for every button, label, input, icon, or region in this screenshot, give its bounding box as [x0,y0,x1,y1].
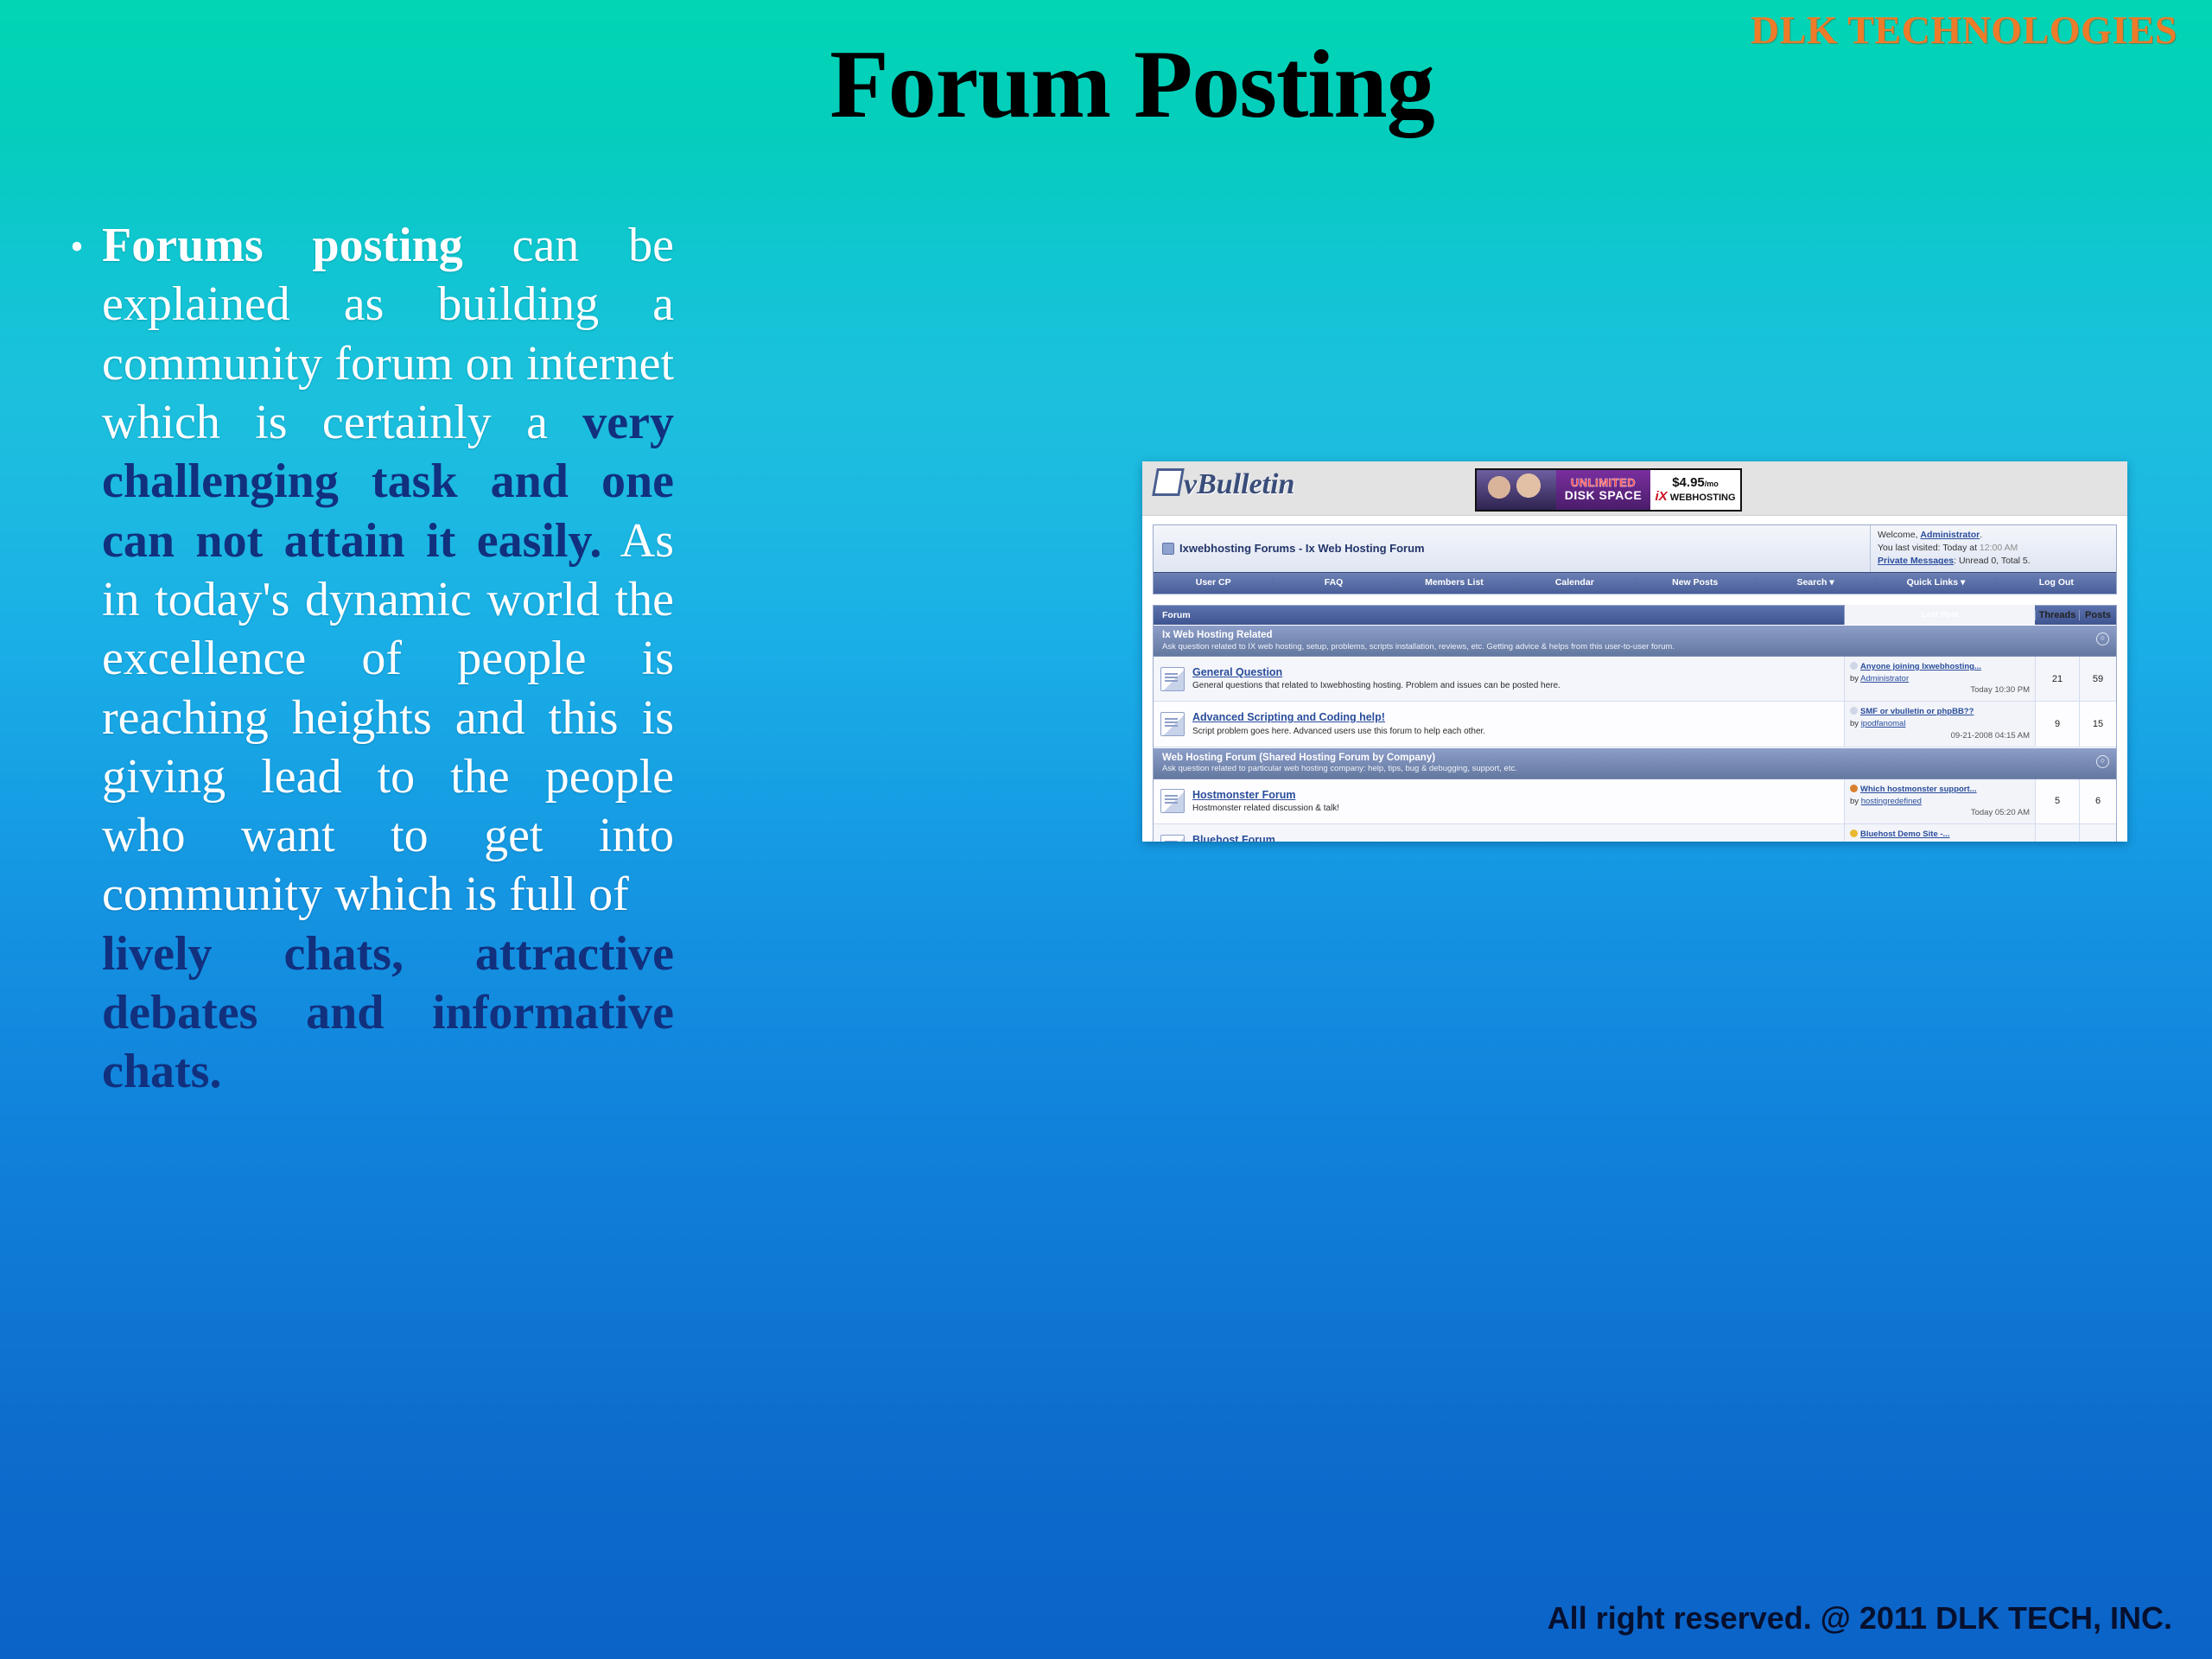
forum-category-header: Web Hosting Forum (Shared Hosting Forum … [1154,747,2116,779]
banner-ad-price-unit: /mo [1705,480,1719,488]
forum-header-panel: Ixwebhosting Forums - Ix Web Hosting For… [1153,524,2117,594]
banner-ad-photo [1477,470,1556,510]
forum-navbar[interactable]: User CPFAQMembers ListCalendarNew PostsS… [1154,572,2116,594]
vbulletin-logo: vBulletin [1154,468,1294,501]
posts-count: 59 [2079,657,2116,701]
last-post-author: by Administrator [1850,674,1909,683]
page-title: Forum Posting [0,35,2212,137]
forum-category-description: Ask question related to particular web h… [1162,764,2107,774]
forum-description: Hostmonster related discussion & talk! [1192,803,1339,815]
welcome-line-1: Welcome, Administrator. [1878,529,2109,542]
forum-category-title: Ix Web Hosting Related [1162,629,2107,642]
slide: DLK TECHNOLOGIES Forum Posting • Forums … [0,0,2212,1659]
last-post-date: Today 10:30 PM [1850,684,2030,696]
forum-folder-icon [1160,789,1185,813]
last-post-cell: Anyone joining Ixwebhosting...by Adminis… [1844,657,2035,701]
forum-row[interactable]: Bluehost ForumBluehost related discussio… [1154,824,2116,842]
forum-cell: Hostmonster ForumHostmonster related dis… [1154,779,1844,823]
private-messages-count: : Unread 0, Total 5. [1954,556,2031,566]
forum-breadcrumb: Ixwebhosting Forums - Ix Web Hosting For… [1154,525,1870,572]
banner-ad-unlimited: UNLIMITED [1571,477,1636,488]
forum-table: Forum Last Post Threads Posts Ix Web Hos… [1153,605,2117,842]
collapse-icon[interactable]: ○ [2096,632,2109,645]
screenshot-reflection: vBulletin UNLIMITED DISK SPACE $4.95/mo … [1142,842,2127,1101]
welcome-user-link[interactable]: Administrator [1920,530,1980,540]
vbulletin-body: Ixwebhosting Forums - Ix Web Hosting For… [1142,516,2127,842]
nav-item-search[interactable]: Search ▾ [1756,578,1876,588]
forum-category-header: Ix Web Hosting RelatedAsk question relat… [1154,625,2116,657]
vbulletin-screenshot: vBulletin UNLIMITED DISK SPACE $4.95/mo … [1142,461,2127,842]
ix-logo-icon: iX [1655,489,1667,504]
welcome-line-3: Private Messages: Unread 0, Total 5. [1878,555,2109,568]
col-header-last-post: Last Post [1844,605,2035,626]
forum-row[interactable]: General QuestionGeneral questions that r… [1154,657,2116,702]
last-post-status-icon [1850,785,1858,792]
threads-count: 21 [2035,657,2079,701]
forum-description: General questions that related to Ixwebh… [1192,680,1560,692]
posts-count: 6 [2079,779,2116,823]
banner-ad-diskspace: DISK SPACE [1565,488,1643,503]
body-seg-bold-navy-2: lively chats, attractive debates and inf… [102,925,674,1102]
forum-home-icon [1162,543,1174,555]
last-post-author-link[interactable]: hostingredefined [1861,797,1922,806]
body-text-column: • Forums posting can be explained as bui… [52,216,674,1102]
body-paragraph: Forums posting can be explained as build… [102,216,674,1102]
forum-folder-icon [1160,667,1185,691]
last-post-author-link[interactable]: Administrator [1860,674,1909,683]
forum-table-header: Forum Last Post Threads Posts [1154,606,2116,625]
nav-item-faq[interactable]: FAQ [1274,578,1394,588]
welcome-suffix: . [1980,530,1982,540]
private-messages-link[interactable]: Private Messages [1878,556,1954,566]
body-seg-plain-2: As in today's dynamic world the excellen… [102,514,674,922]
col-header-threads: Threads [2035,610,2079,620]
last-visit-time: 12:00 AM [1980,543,2018,553]
last-post-status-icon [1850,829,1858,837]
forum-cell: Bluehost ForumBluehost related discussio… [1154,824,1844,842]
vbulletin-logo-mark-icon [1152,468,1185,496]
forum-titlebar: Ixwebhosting Forums - Ix Web Hosting For… [1154,525,2116,572]
nav-item-user-cp[interactable]: User CP [1154,578,1274,588]
nav-item-members-list[interactable]: Members List [1395,578,1515,588]
welcome-panel: Welcome, Administrator. You last visited… [1870,525,2116,572]
body-seg-bold-white: Forums posting [102,219,463,272]
nav-item-log-out[interactable]: Log Out [1997,578,2116,588]
posts-count: 15 [2079,702,2116,746]
last-post-author-link[interactable]: ipodfanomal [1861,719,1906,728]
last-post-status-icon [1850,662,1858,670]
last-post-title-link[interactable]: Which hostmonster support... [1860,785,1977,794]
forum-category-title: Web Hosting Forum (Shared Hosting Forum … [1162,752,2107,765]
forum-row[interactable]: Hostmonster ForumHostmonster related dis… [1154,779,2116,824]
forum-cell: General QuestionGeneral questions that r… [1154,657,1844,701]
banner-ad-message: UNLIMITED DISK SPACE [1556,470,1650,510]
nav-item-new-posts[interactable]: New Posts [1636,578,1756,588]
last-post-title-link[interactable]: Bluehost Demo Site -... [1860,829,1949,839]
forum-description: Script problem goes here. Advanced users… [1192,726,1485,738]
last-post-cell: Which hostmonster support...by hostingre… [1844,779,2035,823]
forum-link[interactable]: Hostmonster Forum [1192,788,1339,804]
vbulletin-header: vBulletin UNLIMITED DISK SPACE $4.95/mo … [1142,461,2127,516]
last-post-author: by hostingredefined [1850,797,1922,806]
forum-link[interactable]: Bluehost Forum [1192,833,1324,842]
bullet-list-item: • Forums posting can be explained as bui… [52,216,674,1102]
copyright-footer: All right reserved. @ 2011 DLK TECH, INC… [1548,1600,2172,1637]
last-post-status-icon [1850,707,1858,715]
vbulletin-logo-text: vBulletin [1184,468,1294,500]
collapse-icon[interactable]: ○ [2096,755,2109,768]
last-post-title-link[interactable]: SMF or vbulletin or phpBB?? [1860,707,1974,716]
col-header-forum: Forum [1154,610,1844,620]
last-visit-label: You last visited: Today at [1878,543,1980,553]
last-post-cell: Bluehost Demo Site -...by Administrator0… [1844,824,2035,842]
last-post-author: by ipodfanomal [1850,719,1905,728]
banner-ad[interactable]: UNLIMITED DISK SPACE $4.95/mo iX WEBHOST… [1475,468,1742,512]
forum-breadcrumb-text: Ixwebhosting Forums - Ix Web Hosting For… [1179,542,1425,555]
banner-ad-price-block: $4.95/mo iX WEBHOSTING [1650,470,1740,510]
col-header-posts: Posts [2079,610,2116,620]
forum-category-description: Ask question related to IX web hosting, … [1162,642,2107,652]
nav-item-calendar[interactable]: Calendar [1515,578,1635,588]
banner-ad-webhosting: WEBHOSTING [1670,493,1736,503]
welcome-prefix: Welcome, [1878,530,1920,540]
banner-ad-price: $4.95 [1672,475,1705,490]
threads-count: 1 [2035,824,2079,842]
posts-count: 1 [2079,824,2116,842]
forum-cell: Advanced Scripting and Coding help!Scrip… [1154,702,1844,746]
forum-folder-icon [1160,712,1185,736]
bullet-glyph-icon: • [52,216,102,266]
forum-link[interactable]: Advanced Scripting and Coding help! [1192,710,1485,726]
welcome-line-2: You last visited: Today at 12:00 AM [1878,542,2109,555]
threads-count: 5 [2035,779,2079,823]
last-post-cell: SMF or vbulletin or phpBB??by ipodfanoma… [1844,702,2035,746]
forum-folder-icon [1160,835,1185,842]
forum-row[interactable]: Advanced Scripting and Coding help!Scrip… [1154,702,2116,747]
last-post-date: Today 05:20 AM [1850,807,2030,819]
last-post-title-link[interactable]: Anyone joining Ixwebhosting... [1860,662,1981,671]
threads-count: 9 [2035,702,2079,746]
nav-item-quick-links[interactable]: Quick Links ▾ [1876,578,1996,588]
forum-link[interactable]: General Question [1192,665,1560,681]
last-post-date: 09-21-2008 04:15 AM [1850,730,2030,742]
